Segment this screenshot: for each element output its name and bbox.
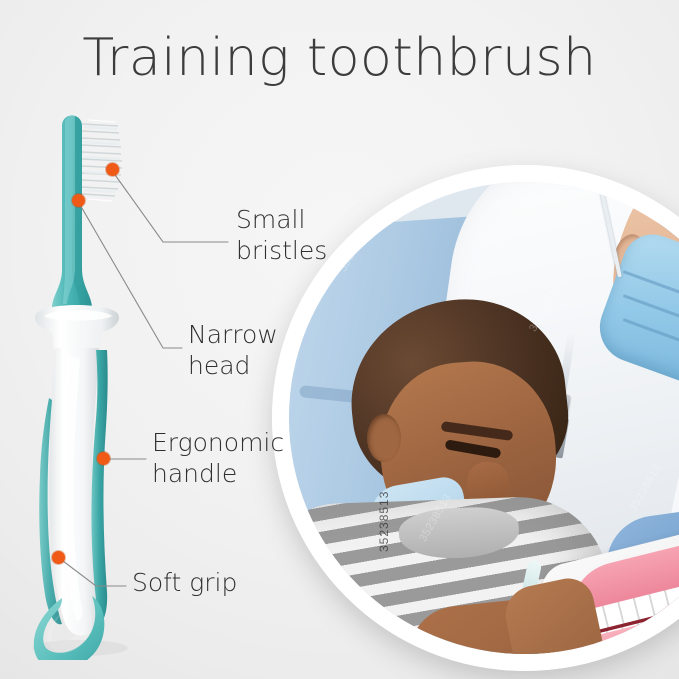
callout-dot-soft-grip[interactable] bbox=[52, 551, 65, 564]
photo-clip: 35238513 35238513 35238513 35238513 3523… bbox=[289, 182, 679, 654]
photo-watermark-id: 35238513 bbox=[377, 491, 391, 552]
callout-dot-ergonomic-handle[interactable] bbox=[97, 452, 110, 465]
page-title: Training toothbrush bbox=[0, 28, 679, 88]
callout-dot-small-bristles[interactable] bbox=[106, 163, 119, 176]
child-ear bbox=[367, 414, 401, 462]
callout-dot-narrow-head[interactable] bbox=[72, 194, 85, 207]
callout-label-narrow-head: Narrow head bbox=[188, 320, 278, 381]
callout-label-soft-grip: Soft grip bbox=[132, 568, 237, 599]
callout-label-small-bristles: Small bristles bbox=[236, 205, 327, 266]
product-photo: 35238513 35238513 35238513 35238513 3523… bbox=[272, 165, 679, 671]
poster-canvas: Training toothbrush bbox=[0, 0, 679, 679]
photo-scene: 35238513 35238513 35238513 35238513 3523… bbox=[289, 182, 679, 654]
callout-label-ergonomic-handle: Ergonomic handle bbox=[152, 428, 284, 489]
